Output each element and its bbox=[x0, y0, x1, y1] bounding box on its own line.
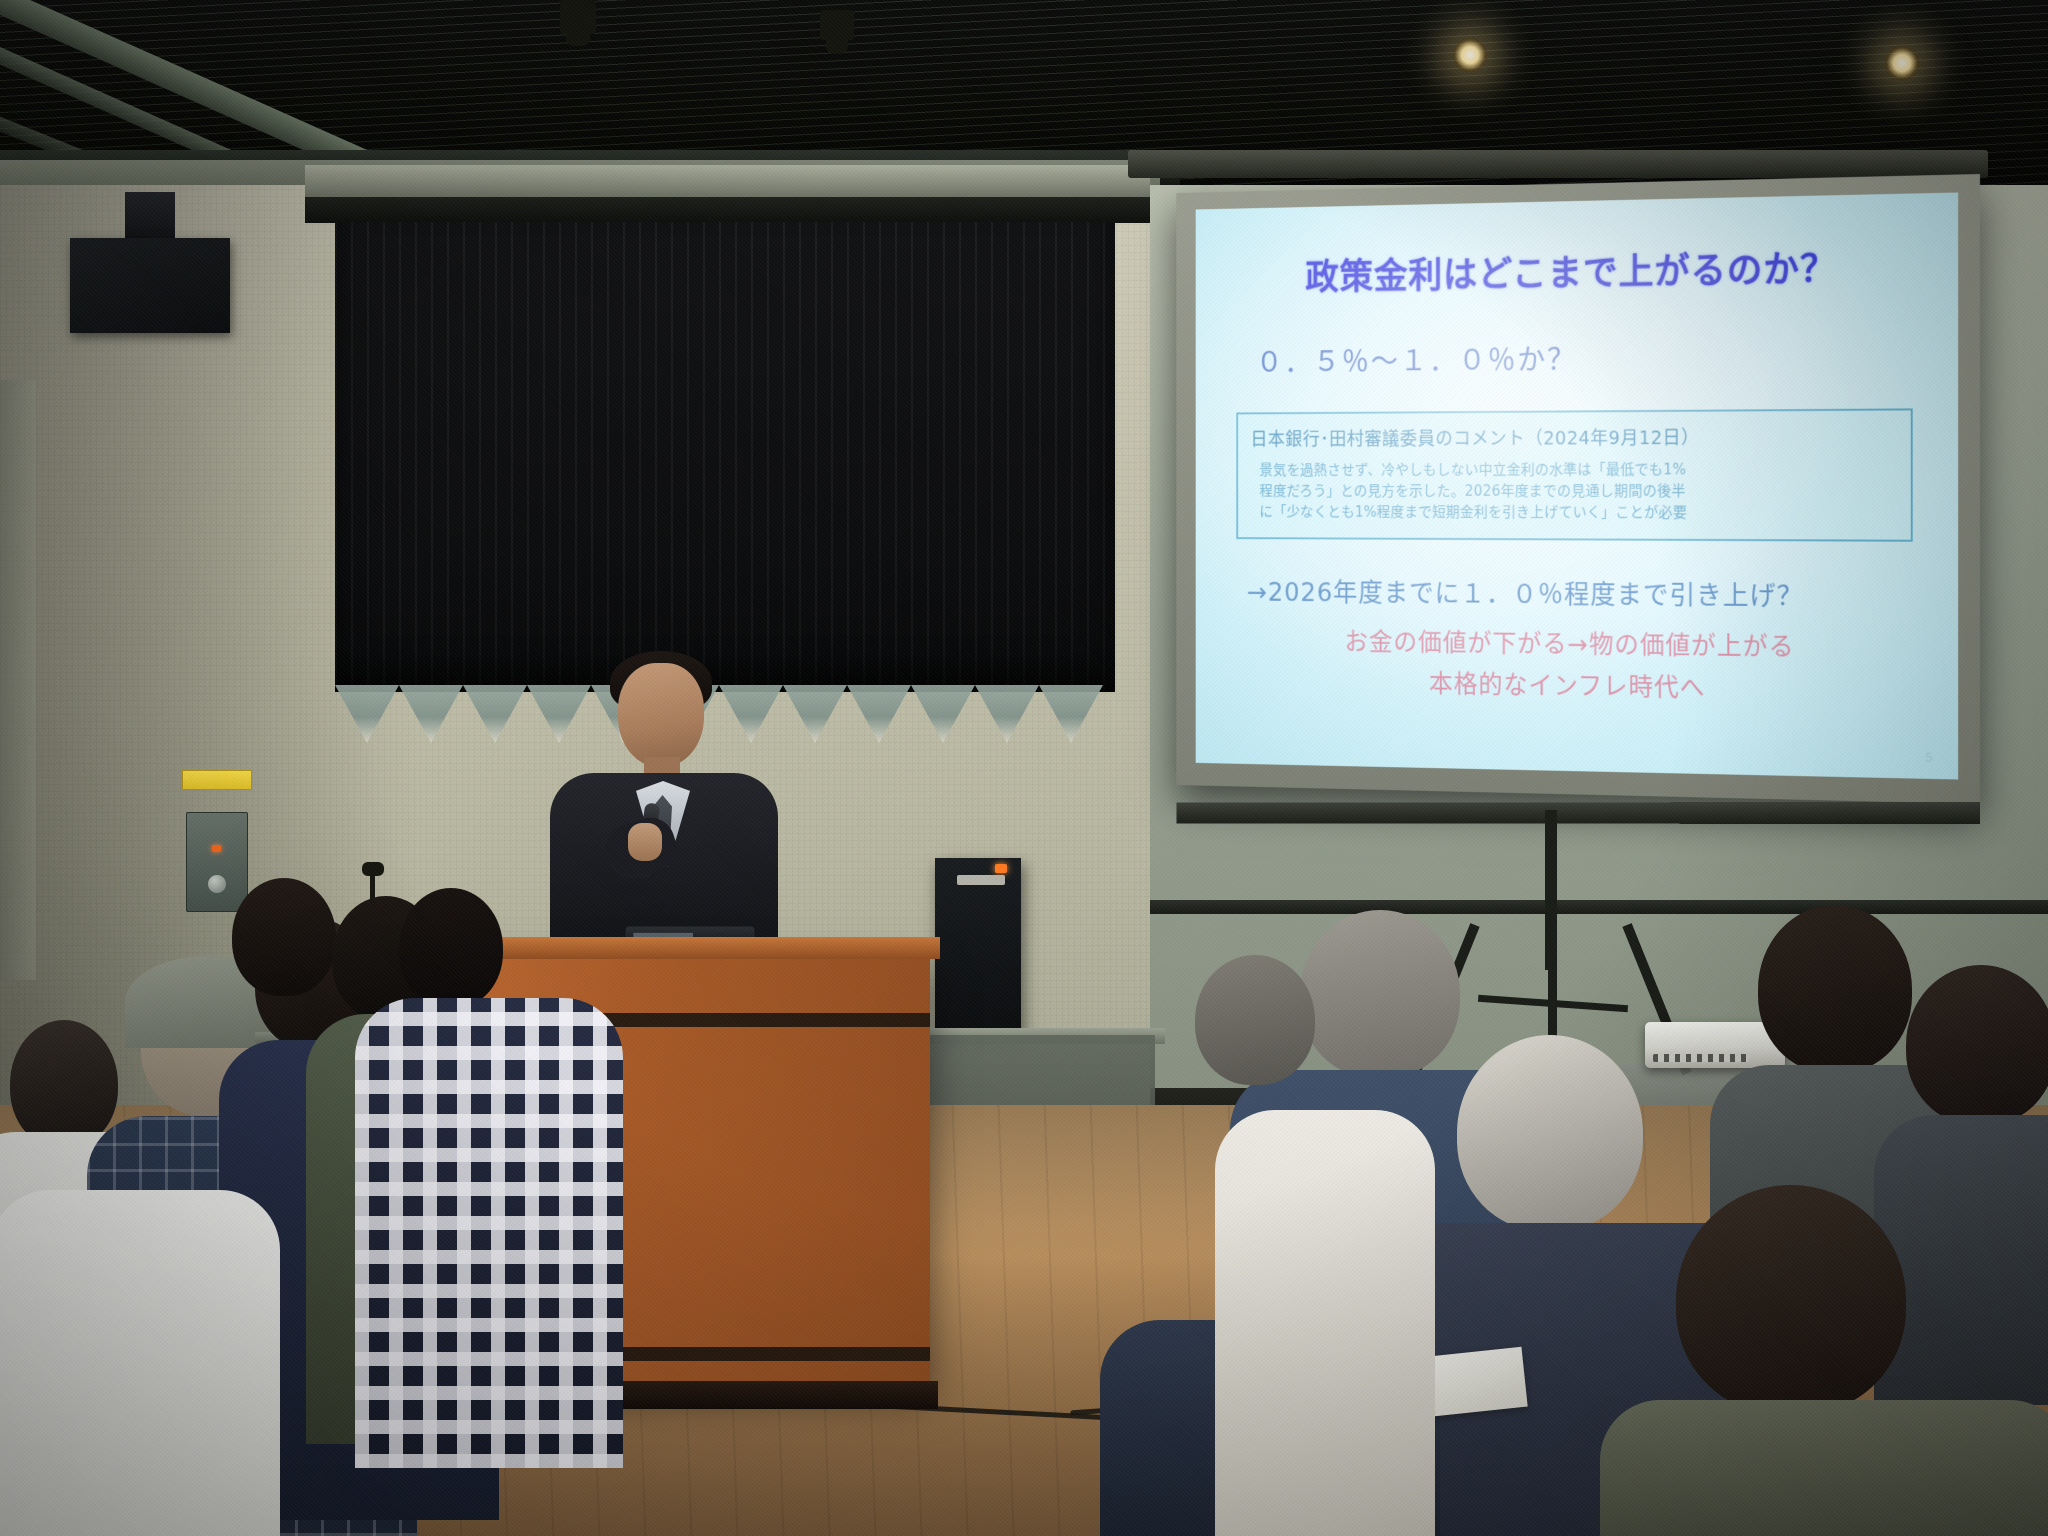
head bbox=[1906, 965, 2048, 1125]
door-frame bbox=[0, 380, 36, 980]
screen-surface: 政策金利はどこまで上がるのか？ ０．５％～１．０％か？ 日本銀行･田村審議委員の… bbox=[1196, 192, 1958, 779]
presenter-hand bbox=[628, 823, 662, 861]
slide-conclusion-line-1: お金の価値が下がる→物の価値が上がる bbox=[1222, 621, 1928, 665]
screen-bottom-bar bbox=[1176, 802, 1980, 824]
quote-line: に「少なくとも1%程度まで短期金利を引き上げていく」ことが必要 bbox=[1259, 502, 1897, 524]
emergency-sign-label bbox=[178, 793, 258, 813]
presenter-head bbox=[618, 663, 704, 767]
quote-line: 景気を過熱させず、冷やしもしない中立金利の水準は「最低でも1% bbox=[1259, 459, 1897, 481]
quote-box: 日本銀行･田村審議委員のコメント（2024年9月12日） 景気を過熱させず、冷や… bbox=[1236, 408, 1912, 542]
quote-box-body: 景気を過熱させず、冷やしもしない中立金利の水準は「最低でも1% 程度だろう」との… bbox=[1251, 459, 1897, 524]
slide-arrow-line: →2026年度までに１．０％程度まで引き上げ？ bbox=[1247, 571, 1929, 614]
head bbox=[1758, 905, 1912, 1073]
track-light-head bbox=[566, 26, 590, 46]
quote-line: 程度だろう」との見方を示した。2026年度までの見通し期間の後半 bbox=[1259, 481, 1897, 503]
audience-member bbox=[1215, 1110, 1395, 1536]
stage-curtain bbox=[335, 222, 1115, 692]
slide-subtitle: ０．５％～１．０％か？ bbox=[1256, 331, 1929, 381]
alarm-led-icon bbox=[212, 845, 221, 852]
speaker-bracket bbox=[125, 192, 175, 240]
projection-screen-assembly: 政策金利はどこまで上がるのか？ ０．５％～１．０％か？ 日本銀行･田村審議委員の… bbox=[1120, 150, 2000, 800]
torso bbox=[1600, 1400, 2048, 1536]
slide-title: 政策金利はどこまで上がるのか？ bbox=[1222, 237, 1928, 301]
projected-slide: 政策金利はどこまで上がるのか？ ０．５％～１．０％か？ 日本銀行･田村審議委員の… bbox=[1196, 192, 1958, 779]
audience-member bbox=[355, 888, 605, 1488]
head bbox=[1457, 1035, 1643, 1231]
curtain-rail bbox=[305, 165, 1150, 197]
ceiling-spotlight bbox=[1885, 46, 1919, 80]
track-light-head bbox=[826, 34, 848, 54]
screen-roller-case bbox=[1128, 150, 1988, 178]
screen-frame: 政策金利はどこまで上がるのか？ ０．５％～１．０％か？ 日本銀行･田村審議委員の… bbox=[1176, 174, 1980, 804]
head bbox=[1676, 1185, 1906, 1415]
head bbox=[1195, 955, 1315, 1085]
curtain-rail-shadow bbox=[305, 197, 1150, 223]
audience-member bbox=[0, 1190, 260, 1536]
slide-page-number: 5 bbox=[1925, 750, 1932, 765]
torso bbox=[1215, 1110, 1435, 1536]
lecture-hall-photo: 政策金利はどこまで上がるのか？ ０．５％～１．０％か？ 日本銀行･田村審議委員の… bbox=[0, 0, 2048, 1536]
power-led-icon bbox=[995, 864, 1007, 873]
emergency-sign bbox=[182, 770, 252, 790]
audience-member bbox=[1620, 1185, 2048, 1536]
ceiling-spotlight bbox=[1453, 38, 1487, 72]
head bbox=[399, 888, 503, 1008]
speaker-handle bbox=[957, 875, 1005, 885]
wall-speaker-icon bbox=[70, 238, 230, 333]
torso bbox=[0, 1190, 280, 1536]
head bbox=[10, 1020, 118, 1148]
quote-box-header: 日本銀行･田村審議委員のコメント（2024年9月12日） bbox=[1251, 422, 1897, 451]
torso bbox=[355, 998, 623, 1468]
slide-conclusion-line-2: 本格的なインフレ時代へ bbox=[1222, 662, 1928, 709]
